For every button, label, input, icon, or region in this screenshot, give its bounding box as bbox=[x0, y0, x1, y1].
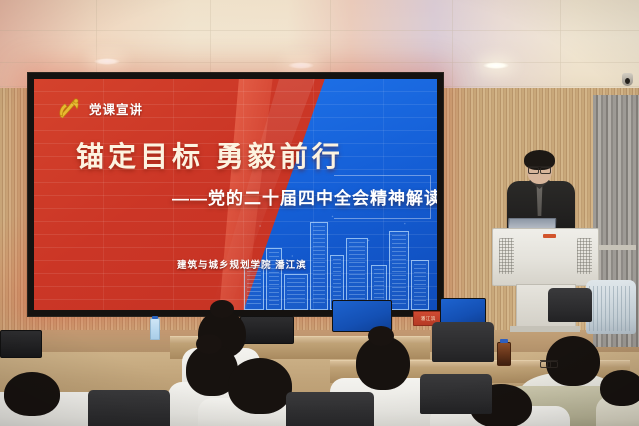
slide-byline: 建筑与城乡规划学院 潘江滨 bbox=[177, 257, 307, 271]
water-bottle bbox=[150, 318, 160, 340]
chair bbox=[286, 392, 374, 426]
chair bbox=[420, 374, 492, 414]
lectern-foot bbox=[510, 326, 580, 332]
name-card-label: 潘江滨 bbox=[421, 315, 436, 321]
lectern-accent-stripe bbox=[543, 234, 556, 238]
lectern-speaker-grille bbox=[499, 238, 514, 274]
student-monitor bbox=[240, 316, 294, 344]
chair bbox=[586, 280, 636, 334]
lectern-speaker-grille bbox=[577, 238, 592, 274]
glasses-icon bbox=[540, 360, 558, 367]
lecture-badge-label: 党课宣讲 bbox=[89, 99, 143, 118]
ceiling-downlight bbox=[288, 62, 314, 69]
ceiling-downlight bbox=[94, 58, 120, 65]
glasses-icon bbox=[528, 166, 551, 173]
hammer-and-sickle-emblem-icon bbox=[56, 96, 82, 120]
slide-subtitle: ——党的二十届四中全会精神解读 bbox=[172, 184, 437, 209]
lectern bbox=[492, 228, 599, 286]
lecture-badge: 党课宣讲 bbox=[56, 96, 143, 120]
slide-title: 锚定目标 勇毅前行 bbox=[76, 135, 344, 175]
chair bbox=[548, 288, 592, 322]
tea-bottle bbox=[497, 342, 511, 366]
ceiling-downlight bbox=[483, 62, 509, 69]
lecture-hall-screenshot: 党课宣讲 锚定目标 勇毅前行 ——党的二十届四中全会精神解读 建筑与城乡规划学院… bbox=[0, 0, 639, 426]
chair bbox=[88, 390, 170, 426]
led-screen-frame: 党课宣讲 锚定目标 勇毅前行 ——党的二十届四中全会精神解读 建筑与城乡规划学院… bbox=[27, 72, 444, 317]
chair bbox=[432, 322, 494, 362]
led-screen-slide: 党课宣讲 锚定目标 勇毅前行 ——党的二十届四中全会精神解读 建筑与城乡规划学院… bbox=[34, 79, 437, 310]
ceiling-camera-icon bbox=[622, 73, 633, 86]
student-monitor bbox=[0, 330, 42, 358]
